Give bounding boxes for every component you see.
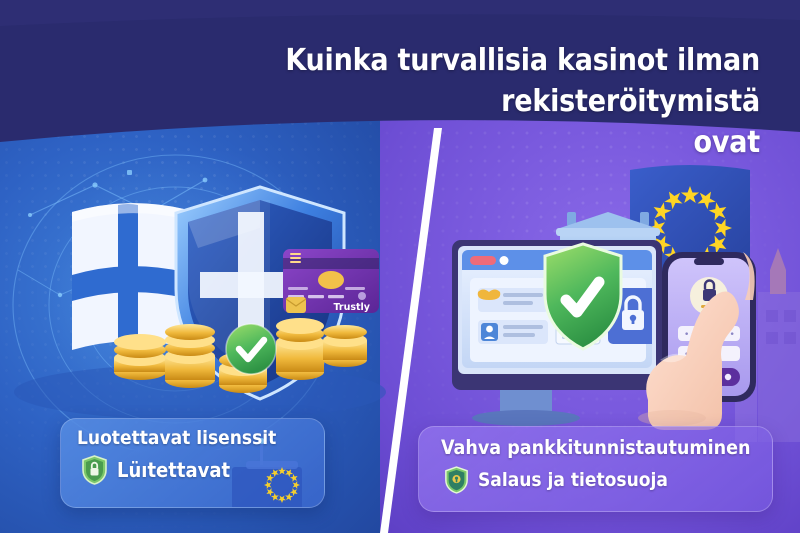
credit-card-icon: Trustly (283, 249, 379, 313)
page-title-line1: Kuinka turvallisia kasinot ilman rekiste… (40, 40, 760, 122)
badge-right-title: Vahva pankkitunnistautuminen (419, 427, 772, 459)
badge-left-subtitle-row: Lüıtettavat (61, 449, 324, 485)
green-shield-lock-icon (444, 466, 469, 494)
infographic-canvas: Trustly (0, 0, 800, 533)
badge-left-subtitle: Lüıtettavat (117, 458, 230, 482)
desktop-monitor-icon (452, 240, 662, 426)
green-shield-lock-icon (81, 455, 108, 485)
page-title: Kuinka turvallisia kasinot ilman rekiste… (40, 40, 760, 160)
green-check-badge-icon (226, 324, 276, 374)
badge-right-subtitle: Salaus ja tietosuoja (478, 469, 668, 491)
card-brand-label: Trustly (333, 302, 370, 313)
page-title-line2: ovat (40, 122, 760, 160)
header-banner: Kuinka turvallisia kasinot ilman rekiste… (0, 0, 800, 160)
badge-trusted-licenses[interactable]: Luotettavat lisenssit Lüıtettavat (60, 418, 325, 508)
badge-strong-bank-auth[interactable]: Vahva pankkitunnistautuminen Salaus ja t… (418, 426, 773, 512)
badge-left-title: Luotettavat lisenssit (61, 419, 324, 449)
badge-right-subtitle-row: Salaus ja tietosuoja (419, 459, 772, 494)
